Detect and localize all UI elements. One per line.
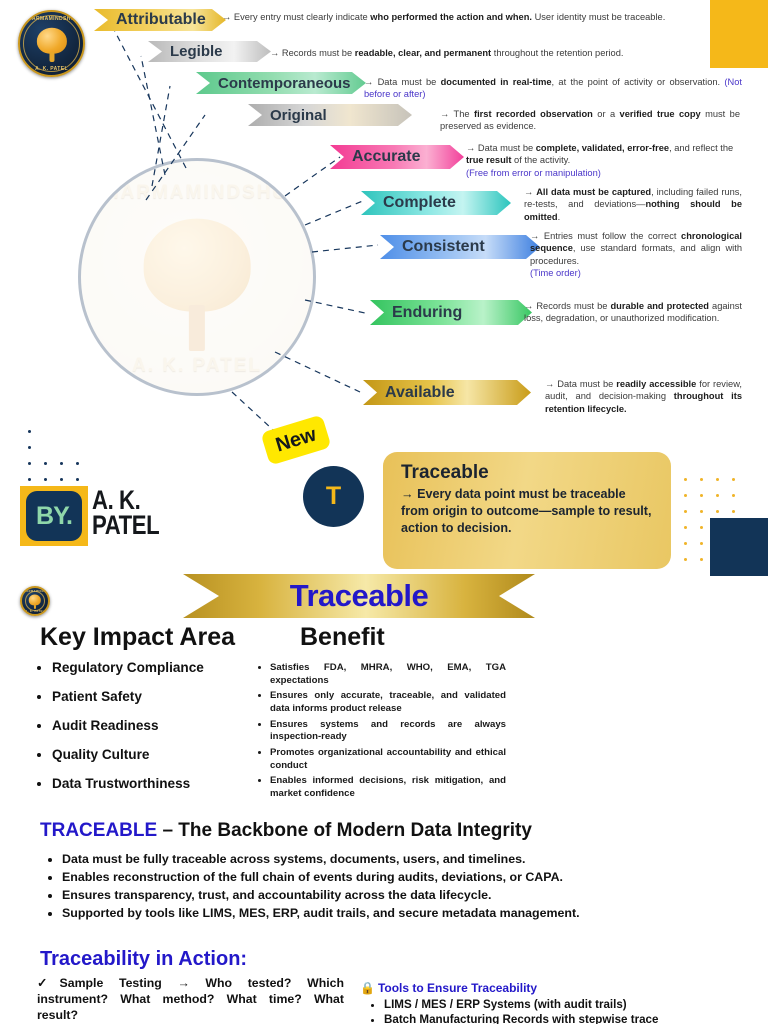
backbone-title-rest: – The Backbone of Modern Data Integrity xyxy=(157,820,532,841)
grid-dot xyxy=(684,542,687,545)
desc-legible: → Records must be readable, clear, and p… xyxy=(270,47,700,59)
watermark-top-text: PHARMAMINDSHUB xyxy=(81,182,313,204)
ribbon-enduring[interactable]: Enduring xyxy=(370,300,532,325)
benefit-item: Enables informed decisions, risk mitigat… xyxy=(270,775,506,800)
ribbon-label: Complete xyxy=(383,195,456,211)
brand-badge-logo-small: PHARMAMINDSHUB A. K. PATEL xyxy=(20,586,50,616)
grid-dot xyxy=(684,510,687,513)
grid-dot xyxy=(684,494,687,497)
desc-consistent: → Entries must follow the correct chrono… xyxy=(530,230,742,279)
by-logo-mark: BY. xyxy=(26,491,82,541)
backbone-point-item: Enables reconstruction of the full chain… xyxy=(62,870,704,884)
grid-dot xyxy=(684,558,687,561)
grid-dot xyxy=(28,446,31,449)
backbone-points-list: Data must be fully traceable across syst… xyxy=(44,852,704,924)
ribbon-consistent[interactable]: Consistent xyxy=(380,235,540,259)
t-letter-circle: T xyxy=(303,466,364,527)
watermark-bottom-text: A. K. PATEL xyxy=(81,355,313,377)
badge-top-text: PHARMAMINDSHUB xyxy=(20,16,83,22)
tools-list: LIMS / MES / ERP Systems (with audit tra… xyxy=(368,998,758,1024)
key-impact-area-item: Audit Readiness xyxy=(52,718,254,733)
grid-dot xyxy=(28,430,31,433)
grid-dot xyxy=(732,494,735,497)
grid-dot xyxy=(684,478,687,481)
desc-complete: → All data must be captured, including f… xyxy=(524,186,742,223)
dot-grid-left xyxy=(28,430,90,492)
grid-dot xyxy=(28,478,31,481)
brain-stem-icon xyxy=(49,52,54,62)
ribbon-label: Original xyxy=(270,108,327,123)
grid-dot xyxy=(700,510,703,513)
ribbon-legible[interactable]: Legible xyxy=(148,41,271,62)
grid-dot xyxy=(716,478,719,481)
grid-dot xyxy=(700,478,703,481)
desc-available: → Data must be readily accessible for re… xyxy=(545,378,742,415)
tools-to-ensure-traceability-title: 🔒Tools to Ensure Traceability xyxy=(360,981,537,995)
traceability-in-action-title: Traceability in Action: xyxy=(40,948,247,971)
key-impact-area-heading: Key Impact Area xyxy=(40,623,235,652)
grid-dot xyxy=(44,462,47,465)
grid-dot xyxy=(684,526,687,529)
ribbon-complete[interactable]: Complete xyxy=(361,191,511,215)
benefit-item: Satisfies FDA, MHRA, WHO, EMA, TGA expec… xyxy=(270,662,506,687)
infographic-page: PHARMAMINDSHUB A. K. PATEL PHARMAMINDSHU… xyxy=(0,0,768,1024)
decorative-navy-block xyxy=(710,518,768,576)
benefit-item: Ensures systems and records are always i… xyxy=(270,719,506,744)
ribbon-label: Enduring xyxy=(392,305,462,321)
grid-dot xyxy=(76,462,79,465)
tools-title-text: Tools to Ensure Traceability xyxy=(378,981,537,995)
grid-dot xyxy=(28,462,31,465)
author-lockup: BY. A. K. PATEL xyxy=(20,486,174,546)
desc-attributable: → Every entry must clearly indicate who … xyxy=(222,11,666,23)
key-impact-area-item: Patient Safety xyxy=(52,689,254,704)
lock-icon: 🔒 xyxy=(360,981,375,995)
key-impact-area-item: Quality Culture xyxy=(52,747,254,762)
grid-dot xyxy=(732,478,735,481)
desc-contemporaneous: → Data must be documented in real-time, … xyxy=(364,76,742,101)
grid-dot xyxy=(44,478,47,481)
key-impact-area-list: Regulatory CompliancePatient SafetyAudit… xyxy=(34,660,254,805)
traceable-card-title: Traceable xyxy=(401,462,655,484)
ribbon-available[interactable]: Available xyxy=(363,380,531,405)
author-name: A. K. PATEL xyxy=(92,486,159,538)
watermark-emblem: PHARMAMINDSHUB A. K. PATEL xyxy=(78,158,316,396)
desc-original: → The first recorded observation or a ve… xyxy=(440,108,740,133)
tools-list-item: Batch Manufacturing Records with stepwis… xyxy=(384,1013,758,1024)
grid-dot xyxy=(60,462,63,465)
watermark-brain-stem-icon xyxy=(189,305,205,351)
by-logo-square: BY. xyxy=(20,486,88,546)
backbone-point-item: Supported by tools like LIMS, MES, ERP, … xyxy=(62,906,704,920)
backbone-title: TRACEABLE – The Backbone of Modern Data … xyxy=(40,820,532,842)
benefit-heading: Benefit xyxy=(300,623,385,652)
badge-bottom-text: A. K. PATEL xyxy=(22,610,48,613)
grid-dot xyxy=(732,510,735,513)
ribbon-attributable[interactable]: Attributable xyxy=(94,9,226,31)
brain-icon xyxy=(36,28,66,54)
ribbon-label: Attributable xyxy=(116,12,206,28)
ribbon-original[interactable]: Original xyxy=(248,104,412,126)
grid-dot xyxy=(60,478,63,481)
ribbon-label: Legible xyxy=(170,44,223,59)
ribbon-label: Accurate xyxy=(352,149,420,165)
key-impact-area-item: Regulatory Compliance xyxy=(52,660,254,675)
ribbon-label: Contemporaneous xyxy=(218,76,351,91)
brain-stem-icon xyxy=(34,605,36,609)
grid-dot xyxy=(716,510,719,513)
ribbon-label: Consistent xyxy=(402,239,485,255)
traceability-in-action-text: ✓Sample Testing → Who tested? Which inst… xyxy=(37,975,344,1024)
desc-accurate: → Data must be complete, validated, erro… xyxy=(466,142,742,179)
watermark-brain-icon xyxy=(144,219,251,312)
grid-dot xyxy=(716,494,719,497)
brand-badge-logo: PHARMAMINDSHUB A. K. PATEL xyxy=(18,10,85,77)
ribbon-contemporaneous[interactable]: Contemporaneous xyxy=(196,72,366,94)
traceable-callout-card: Traceable → Every data point must be tra… xyxy=(383,452,671,569)
backbone-point-item: Ensures transparency, trust, and account… xyxy=(62,888,704,902)
tools-list-item: LIMS / MES / ERP Systems (with audit tra… xyxy=(384,998,758,1011)
alcoa-section: PHARMAMINDSHUB A. K. PATEL PHARMAMINDSHU… xyxy=(0,0,768,425)
backbone-title-highlight: TRACEABLE xyxy=(40,820,157,841)
traceable-section-title: Traceable xyxy=(290,578,429,614)
grid-dot xyxy=(700,494,703,497)
benefit-item: Promotes organizational accountability a… xyxy=(270,747,506,772)
benefit-item: Ensures only accurate, traceable, and va… xyxy=(270,690,506,715)
benefit-list: Satisfies FDA, MHRA, WHO, EMA, TGA expec… xyxy=(256,662,506,804)
badge-top-text: PHARMAMINDSHUB xyxy=(22,590,48,593)
ribbon-label: Available xyxy=(385,385,455,401)
desc-enduring: → Records must be durable and protected … xyxy=(524,300,742,325)
grid-dot xyxy=(700,542,703,545)
grid-dot xyxy=(76,478,79,481)
traceable-section-ribbon: Traceable xyxy=(183,574,535,618)
key-impact-area-item: Data Trustworthiness xyxy=(52,776,254,791)
traceable-card-body: → Every data point must be traceable fro… xyxy=(401,486,655,537)
badge-bottom-text: A. K. PATEL xyxy=(20,66,83,72)
backbone-point-item: Data must be fully traceable across syst… xyxy=(62,852,704,866)
author-name-line2: PATEL xyxy=(92,513,159,538)
ribbon-accurate[interactable]: Accurate xyxy=(330,145,464,169)
grid-dot xyxy=(700,558,703,561)
grid-dot xyxy=(700,526,703,529)
